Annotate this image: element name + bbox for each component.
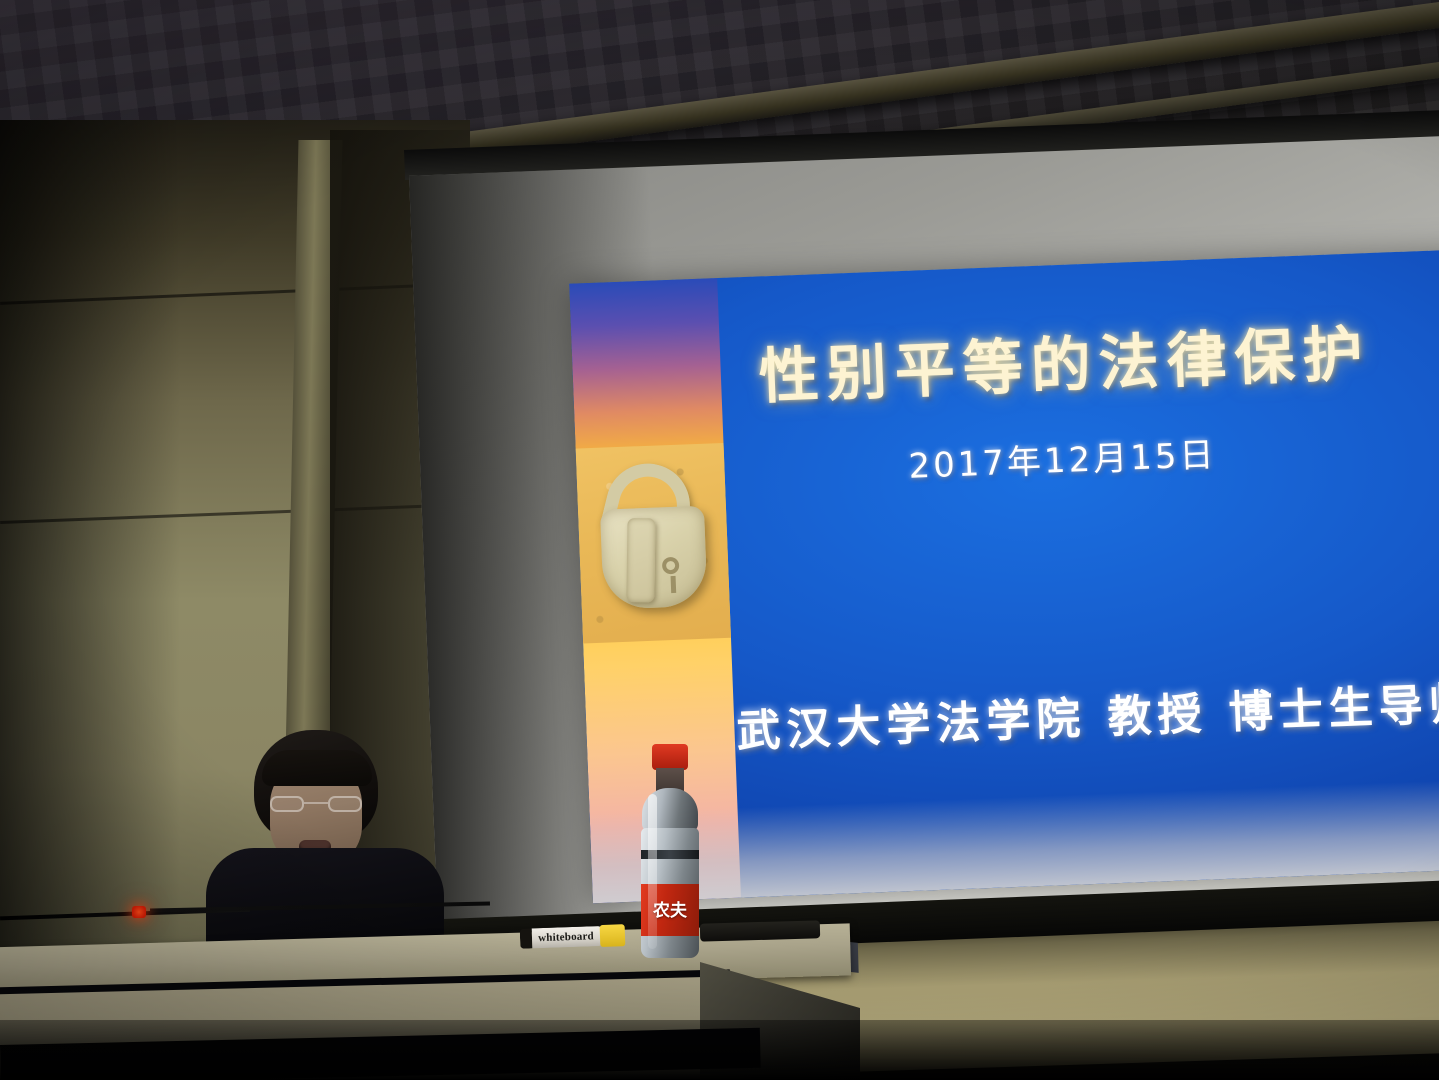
glasses-lens-right bbox=[328, 796, 362, 812]
water-bottle[interactable]: 农夫 bbox=[634, 744, 704, 960]
bottle-highlight bbox=[648, 794, 657, 949]
wall-shadow-left bbox=[0, 120, 180, 950]
lecture-hall-scene: 性别平等的法律保护 2017年12月15日 武汉大学法学院 教授 博士生导师 w bbox=[0, 0, 1439, 1080]
speaker-presenter bbox=[170, 730, 460, 960]
padlock-photo bbox=[576, 443, 731, 644]
glasses-bridge bbox=[304, 802, 328, 804]
foreground-floor-shadow bbox=[0, 1020, 1439, 1080]
glasses-lens-left bbox=[270, 796, 304, 812]
slide-affiliation: 武汉大学法学院 教授 博士生导师 bbox=[735, 667, 1439, 760]
microphone-led-indicator bbox=[132, 906, 146, 918]
speaker-glasses bbox=[270, 796, 362, 812]
projection-screen: 性别平等的法律保护 2017年12月15日 武汉大学法学院 教授 博士生导师 bbox=[404, 109, 1439, 949]
slide-date: 2017年12月15日 bbox=[907, 427, 1217, 488]
slide-title: 性别平等的法律保护 bbox=[757, 302, 1439, 416]
marker-label-text: whiteboard bbox=[534, 929, 598, 945]
marker-pen-secondary[interactable] bbox=[700, 920, 820, 941]
padlock-plate-icon bbox=[626, 518, 655, 602]
speaker-fringe bbox=[262, 750, 372, 786]
bottle-cap bbox=[652, 744, 688, 770]
whiteboard-marker[interactable]: whiteboard bbox=[520, 923, 626, 951]
marker-cap bbox=[600, 924, 626, 947]
